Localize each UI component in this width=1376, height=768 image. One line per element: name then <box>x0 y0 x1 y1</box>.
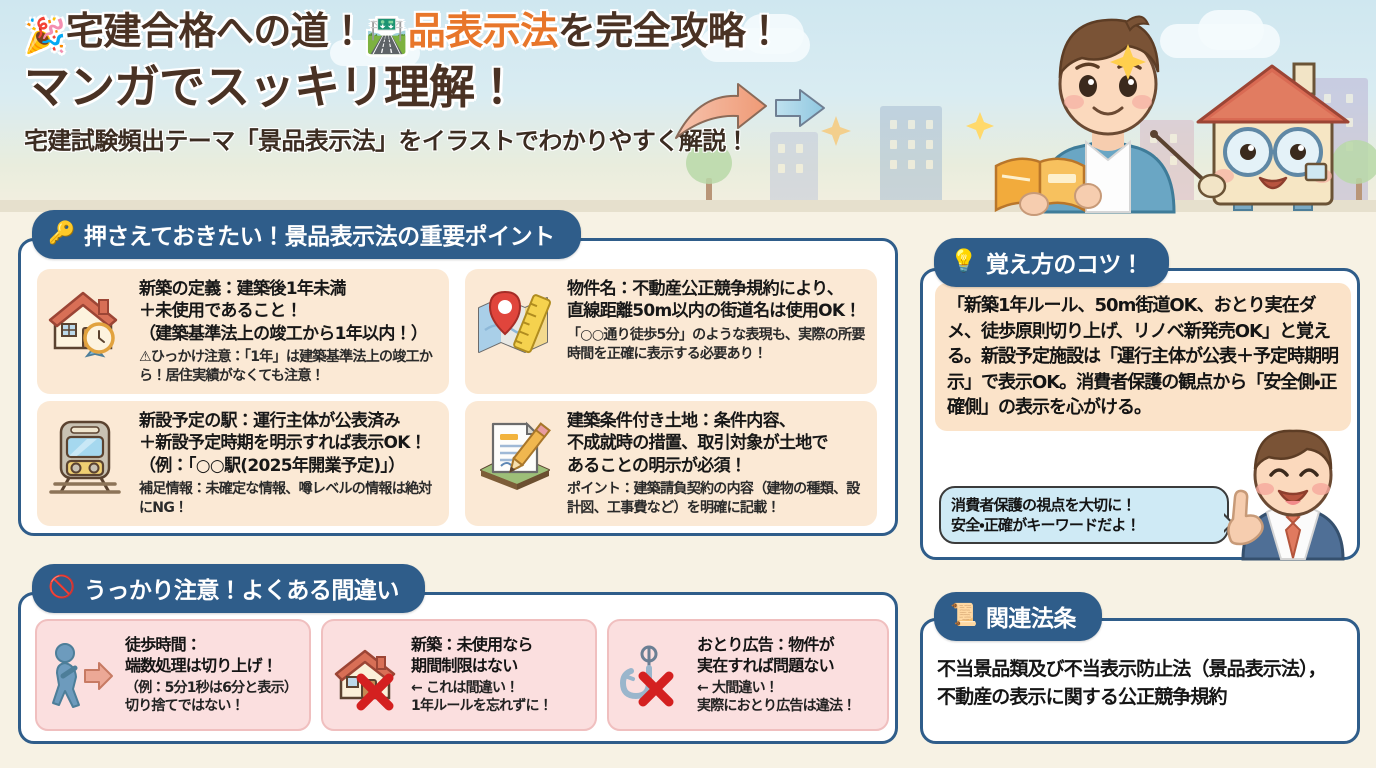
mistake-card-sub: ← これは間違い！ 1年ルールを忘れずに！ <box>411 679 552 715</box>
point-card-text: 新設予定の駅：運行主体が公表済み ＋新設予定時期を明示すれば表示OK！ （例：「… <box>139 410 439 518</box>
laws-body-text: 不当景品類及び不当表示防止法（景品表示法）， 不動産の表示に関する公正競争規約 <box>937 655 1351 711</box>
curved-arrow-icon <box>676 84 766 138</box>
point-card-main: 新設予定の駅：運行主体が公表済み ＋新設予定時期を明示すれば表示OK！ （例：「… <box>139 410 439 477</box>
tips-section-header: 💡 覚え方のコツ！ <box>934 238 1169 287</box>
laws-section-header: 📜 関連法条 <box>934 592 1102 641</box>
mistake-card-text: 徒歩時間： 端数処理は切り上げ！ （例：5分1秒は6分と表示） 切り捨てではない… <box>125 635 297 715</box>
mistake-card[interactable]: 徒歩時間： 端数処理は切り上げ！ （例：5分1秒は6分と表示） 切り捨てではない… <box>35 619 311 731</box>
tips-panel: 「新築1年ルール、50m街道OK、おとり実在ダメ、徒歩原則切り上げ、リノベ新発売… <box>920 268 1360 560</box>
points-panel: 新築の定義：建築後1年未満 ＋未使用であること！ （建築基準法上の竣工から1年以… <box>18 238 898 536</box>
point-card[interactable]: 建築条件付き土地：条件内容、 不成就時の措置、取引対象が土地で あることの明示が… <box>465 401 877 526</box>
points-header-label: 押さえておきたい！景品表示法の重要ポイント <box>84 217 555 251</box>
mistakes-panel: 徒歩時間： 端数処理は切り上げ！ （例：5分1秒は6分と表示） 切り捨てではない… <box>18 592 898 744</box>
hero-characters <box>976 0 1376 212</box>
page-title-line2: マンガでスッキリ理解！ <box>24 60 783 115</box>
point-card-sub: ⚠ひっかけ注意：「1年」は建築基準法上の竣工から！居住実績がなくても注意！ <box>139 348 439 386</box>
mistake-card-text: 新築：未使用なら 期間制限はない ← これは間違い！ 1年ルールを忘れずに！ <box>411 635 552 715</box>
mistake-card-main: 新築：未使用なら 期間制限はない <box>411 635 552 677</box>
point-card-text: 物件名：不動産公正競争規約により、 直線距離50m以内の街道名は使用OK！ 「○… <box>567 278 867 363</box>
laws-header-label: 関連法条 <box>986 599 1076 633</box>
point-card[interactable]: 新築の定義：建築後1年未満 ＋未使用であること！ （建築基準法上の竣工から1年以… <box>37 269 449 394</box>
mistake-card-sub: ← 大間違い！ 実際におとり広告は違法！ <box>697 679 855 715</box>
points-section-header: 🔑 押さえておきたい！景品表示法の重要ポイント <box>32 210 581 259</box>
house-clock-badge-icon <box>47 278 131 358</box>
hero-title-block: 🎉宅建合格への道！🛣️品表示法を完全攻略！ マンガでスッキリ理解！ 宅建試験頻出… <box>24 8 783 156</box>
title-line1-highlight: 品表示法 <box>408 9 558 53</box>
pointing-hand-icon <box>1228 491 1262 544</box>
point-card-sub: 補足情報：未確定な情報、噂レベルの情報は絶対にNG！ <box>139 480 439 518</box>
key-icon: 🔑 <box>48 223 75 245</box>
point-card-text: 新築の定義：建築後1年未満 ＋未使用であること！ （建築基準法上の竣工から1年以… <box>139 278 439 386</box>
road-sign-icon: 🛣️ <box>366 16 408 56</box>
mistake-card-main: 徒歩時間： 端数処理は切り上げ！ <box>125 635 297 677</box>
house-mascot-icon <box>1150 64 1348 210</box>
tips-speech-bubble: 消費者保護の視点を大切に！ 安全・正確がキーワードだよ！ <box>939 486 1229 544</box>
train-icon <box>47 410 131 494</box>
student-boy-icon <box>996 16 1174 215</box>
right-arrow-icon <box>776 90 824 126</box>
mistake-card-sub: （例：5分1秒は6分と表示） 切り捨てではない！ <box>125 679 297 715</box>
building-shape <box>880 106 942 204</box>
mistakes-header-label: うっかり注意！よくある間違い <box>84 571 399 605</box>
point-card-text: 建築条件付き土地：条件内容、 不成就時の措置、取引対象が土地で あることの明示が… <box>567 410 867 518</box>
point-card-sub: 「○○通り徒歩5分」のような表現も、実際の所要時間を正確に表示する必要あり！ <box>567 326 867 364</box>
title-line1-post: を完全攻略！ <box>558 9 783 53</box>
scroll-icon: 📜 <box>950 605 977 627</box>
document-pencil-land-icon <box>475 410 559 490</box>
sparkle-icon <box>821 116 851 146</box>
mistake-card-main: おとり広告：物件が 実在すれば問題ない <box>697 635 855 677</box>
mistake-card[interactable]: 新築：未使用なら 期間制限はない ← これは間違い！ 1年ルールを忘れずに！ <box>321 619 597 731</box>
point-card[interactable]: 物件名：不動産公正競争規約により、 直線距離50m以内の街道名は使用OK！ 「○… <box>465 269 877 394</box>
teacher-boy-pointing-icon <box>1217 433 1353 559</box>
page-subtitle: 宅建試験頻出テーマ「景品表示法」をイラストでわかりやすく解説！ <box>24 121 783 156</box>
point-card-sub: ポイント：建築請負契約の内容（建物の種類、設計図、工事費など）を明確に記載！ <box>567 480 867 518</box>
house-cross-icon <box>331 640 405 710</box>
map-ruler-icon <box>475 278 559 358</box>
mistake-card-text: おとり広告：物件が 実在すれば問題ない ← 大間違い！ 実際におとり広告は違法！ <box>697 635 855 715</box>
point-card-main: 物件名：不動産公正競争規約により、 直線距離50m以内の街道名は使用OK！ <box>567 278 867 323</box>
mistakes-section-header: 🚫 うっかり注意！よくある間違い <box>32 564 425 613</box>
tips-header-label: 覚え方のコツ！ <box>986 245 1144 279</box>
lightbulb-icon: 💡 <box>950 251 977 273</box>
fishhook-cross-icon <box>617 640 691 710</box>
tips-body-text: 「新築1年ルール、50m街道OK、おとり実在ダメ、徒歩原則切り上げ、リノベ新発売… <box>935 283 1351 431</box>
mistake-card[interactable]: おとり広告：物件が 実在すれば問題ない ← 大間違い！ 実際におとり広告は違法！ <box>607 619 889 731</box>
point-card[interactable]: 新設予定の駅：運行主体が公表済み ＋新設予定時期を明示すれば表示OK！ （例：「… <box>37 401 449 526</box>
point-card-main: 建築条件付き土地：条件内容、 不成就時の措置、取引対象が土地で あることの明示が… <box>567 410 867 477</box>
walking-person-arrow-icon <box>45 640 119 710</box>
party-popper-icon: 🎉 <box>24 16 66 56</box>
prohibited-icon: 🚫 <box>48 577 75 599</box>
title-line1-pre: 宅建合格への道！ <box>66 9 366 53</box>
decorative-arrows <box>672 82 852 146</box>
page-title-line1: 🎉宅建合格への道！🛣️品表示法を完全攻略！ <box>24 8 783 58</box>
point-card-main: 新築の定義：建築後1年未満 ＋未使用であること！ （建築基準法上の竣工から1年以… <box>139 278 439 345</box>
